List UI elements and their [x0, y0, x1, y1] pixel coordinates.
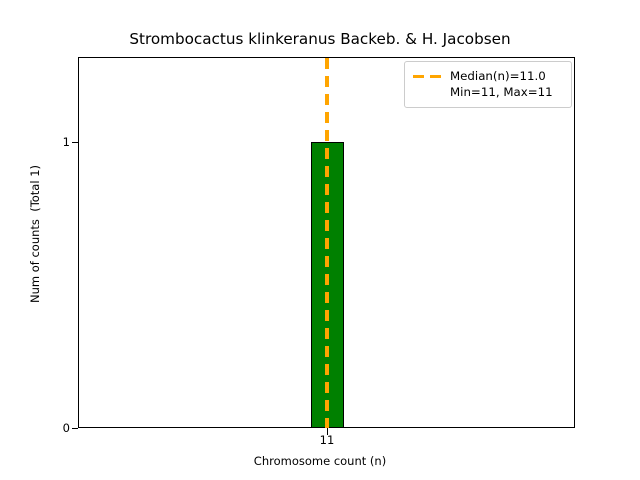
y-tick-label-0: 0 [54, 421, 70, 435]
y-tick-mark-1 [72, 142, 79, 143]
median-line [325, 58, 329, 428]
y-axis-label: Num of counts (Total 1) [28, 84, 42, 384]
x-axis-label: Chromosome count (n) [0, 454, 640, 468]
dashed-line-icon [413, 69, 443, 84]
legend-entry-labels: Median(n)=11.0 Min=11, Max=11 [450, 68, 553, 100]
legend-label-minmax: Min=11, Max=11 [450, 84, 553, 100]
figure-canvas: Strombocactus klinkeranus Backeb. & H. J… [0, 0, 640, 480]
chart-title: Strombocactus klinkeranus Backeb. & H. J… [0, 30, 640, 48]
legend: Median(n)=11.0 Min=11, Max=11 [404, 61, 572, 108]
x-tick-label-11: 11 [307, 433, 347, 447]
y-tick-mark-0 [72, 428, 79, 429]
legend-label-median: Median(n)=11.0 [450, 68, 553, 84]
y-axis-label-container: Num of counts (Total 1) [0, 0, 40, 480]
legend-entry-median: Median(n)=11.0 Min=11, Max=11 [413, 68, 563, 100]
y-tick-label-1: 1 [54, 135, 70, 149]
